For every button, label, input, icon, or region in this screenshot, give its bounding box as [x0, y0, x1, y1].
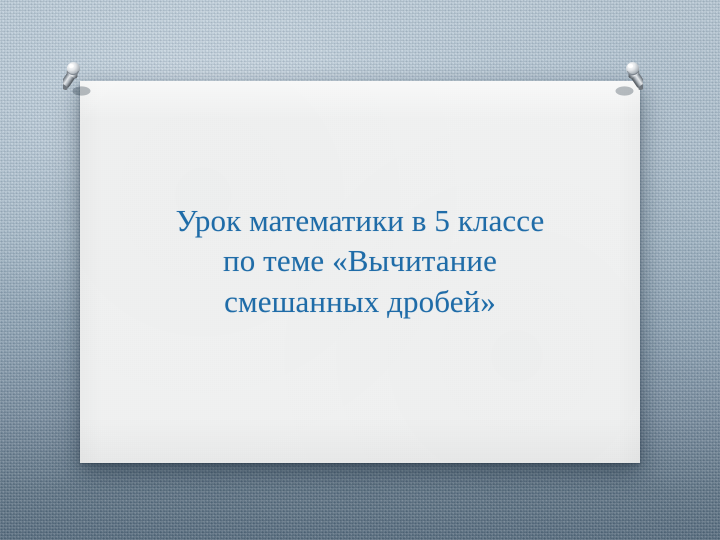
paper-sheet: Урок математики в 5 классе по теме «Вычи…: [80, 81, 640, 463]
presentation-slide: Урок математики в 5 классе по теме «Вычи…: [0, 0, 720, 540]
slide-title: Урок математики в 5 классе по теме «Вычи…: [80, 201, 640, 322]
